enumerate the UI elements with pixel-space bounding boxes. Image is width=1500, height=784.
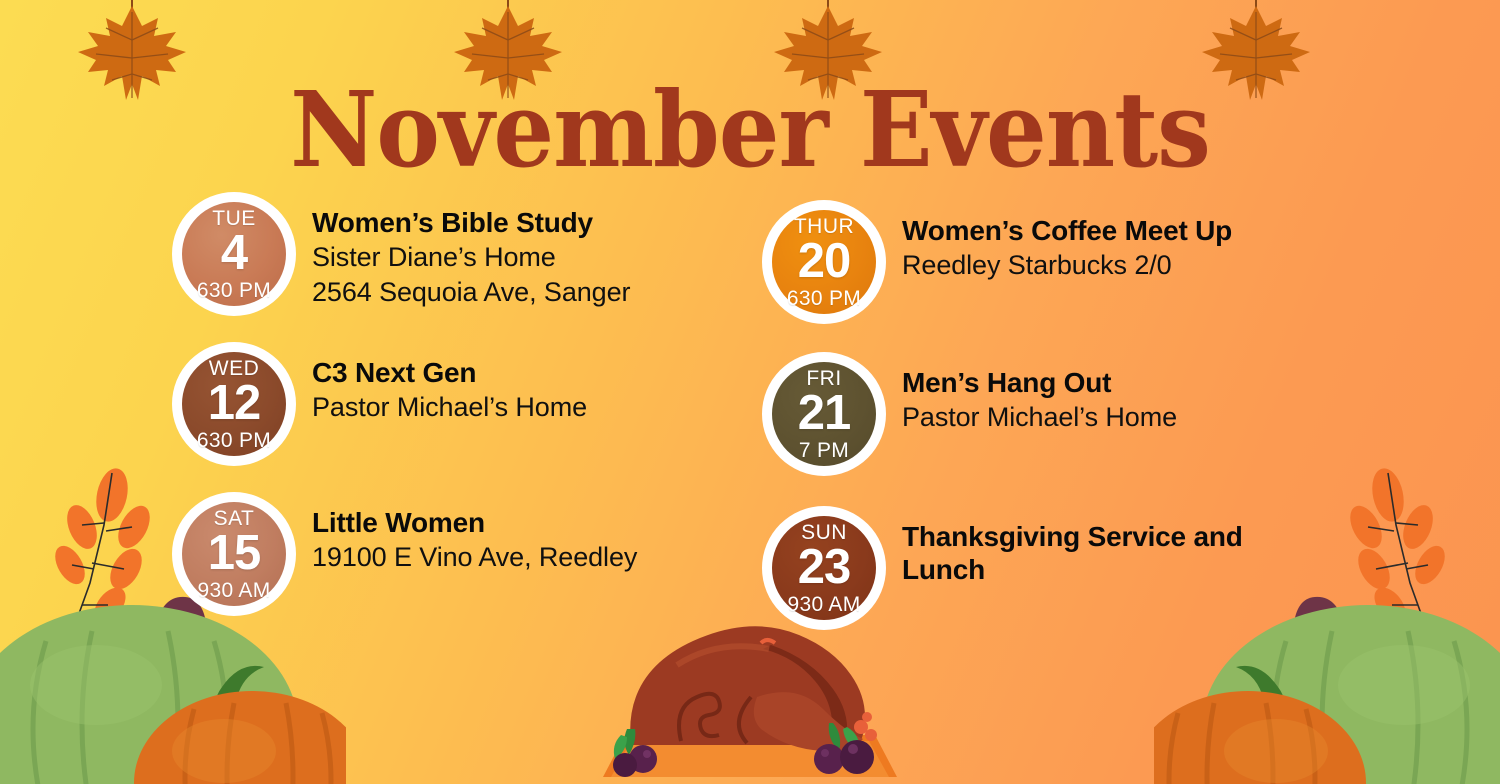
date-disc: WED 12 630 PM	[182, 352, 286, 456]
red-maple-leaf-icon	[10, 687, 180, 784]
event-item[interactable]: SAT 15 930 AM Little Women 19100 E Vino …	[172, 492, 812, 616]
event-location-2: 2564 Sequoia Ave, Sanger	[312, 276, 630, 309]
orange-pumpkin-icon	[1154, 666, 1366, 784]
date-disc: SUN 23 930 AM	[772, 516, 876, 620]
green-pumpkin-icon	[0, 597, 298, 784]
date-badge: TUE 4 630 PM	[172, 192, 296, 316]
events-column-left: TUE 4 630 PM Women’s Bible Study Sister …	[172, 192, 812, 616]
date-badge: SAT 15 930 AM	[172, 492, 296, 616]
date-badge: THUR 20 630 PM	[762, 200, 886, 324]
event-title: Thanksgiving Service and Lunch	[902, 520, 1302, 586]
date-badge: FRI 21 7 PM	[762, 352, 886, 476]
date-time: 930 AM	[787, 594, 860, 615]
november-events-poster: November Events TUE 4 630 PM Women’s Bib…	[0, 0, 1500, 784]
event-location: Pastor Michael’s Home	[312, 391, 587, 424]
page-title: November Events	[0, 78, 1500, 182]
date-time: 630 PM	[197, 430, 271, 451]
garnish-left	[613, 729, 657, 777]
event-text: Little Women 19100 E Vino Ave, Reedley	[296, 492, 637, 575]
date-badge: SUN 23 930 AM	[762, 506, 886, 630]
events-column-right: THUR 20 630 PM Women’s Coffee Meet Up Re…	[762, 192, 1402, 630]
roast-turkey-art	[585, 609, 915, 779]
garnish-right	[814, 723, 874, 774]
date-daynumber: 15	[208, 529, 261, 578]
date-time: 630 PM	[787, 288, 861, 309]
date-daynumber: 20	[798, 237, 851, 286]
event-item[interactable]: TUE 4 630 PM Women’s Bible Study Sister …	[172, 192, 812, 316]
date-daynumber: 23	[798, 543, 851, 592]
event-text: C3 Next Gen Pastor Michael’s Home	[296, 342, 587, 425]
event-location: Reedley Starbucks 2/0	[902, 249, 1232, 282]
date-disc: TUE 4 630 PM	[182, 202, 286, 306]
event-title: Women’s Bible Study	[312, 206, 630, 239]
roast-turkey-platter	[585, 609, 915, 784]
orange-pumpkin-icon	[134, 666, 346, 784]
event-item[interactable]: WED 12 630 PM C3 Next Gen Pastor Michael…	[172, 342, 812, 466]
date-time: 630 PM	[197, 280, 271, 301]
event-location: 19100 E Vino Ave, Reedley	[312, 541, 637, 574]
date-time: 930 AM	[197, 580, 270, 601]
date-disc: SAT 15 930 AM	[182, 502, 286, 606]
event-title: Women’s Coffee Meet Up	[902, 214, 1232, 247]
event-location: Sister Diane’s Home	[312, 241, 630, 274]
event-location: Pastor Michael’s Home	[902, 401, 1177, 434]
events-list: TUE 4 630 PM Women’s Bible Study Sister …	[0, 192, 1500, 622]
date-disc: FRI 21 7 PM	[772, 362, 876, 466]
event-title: C3 Next Gen	[312, 356, 587, 389]
date-daynumber: 4	[221, 229, 247, 278]
event-text: Women’s Coffee Meet Up Reedley Starbucks…	[886, 200, 1232, 283]
event-text: Men’s Hang Out Pastor Michael’s Home	[886, 352, 1177, 435]
event-text: Thanksgiving Service and Lunch	[886, 506, 1302, 586]
event-title: Men’s Hang Out	[902, 366, 1177, 399]
event-text: Women’s Bible Study Sister Diane’s Home …	[296, 192, 630, 309]
event-title: Little Women	[312, 506, 637, 539]
date-daynumber: 21	[798, 389, 851, 438]
event-item[interactable]: THUR 20 630 PM Women’s Coffee Meet Up Re…	[762, 200, 1402, 324]
date-disc: THUR 20 630 PM	[772, 210, 876, 314]
date-daynumber: 12	[208, 379, 261, 428]
event-item[interactable]: FRI 21 7 PM Men’s Hang Out Pastor Michae…	[762, 352, 1402, 476]
date-time: 7 PM	[799, 440, 849, 461]
date-badge: WED 12 630 PM	[172, 342, 296, 466]
event-item[interactable]: SUN 23 930 AM Thanksgiving Service and L…	[762, 506, 1402, 630]
red-maple-leaf-icon	[1320, 687, 1490, 784]
